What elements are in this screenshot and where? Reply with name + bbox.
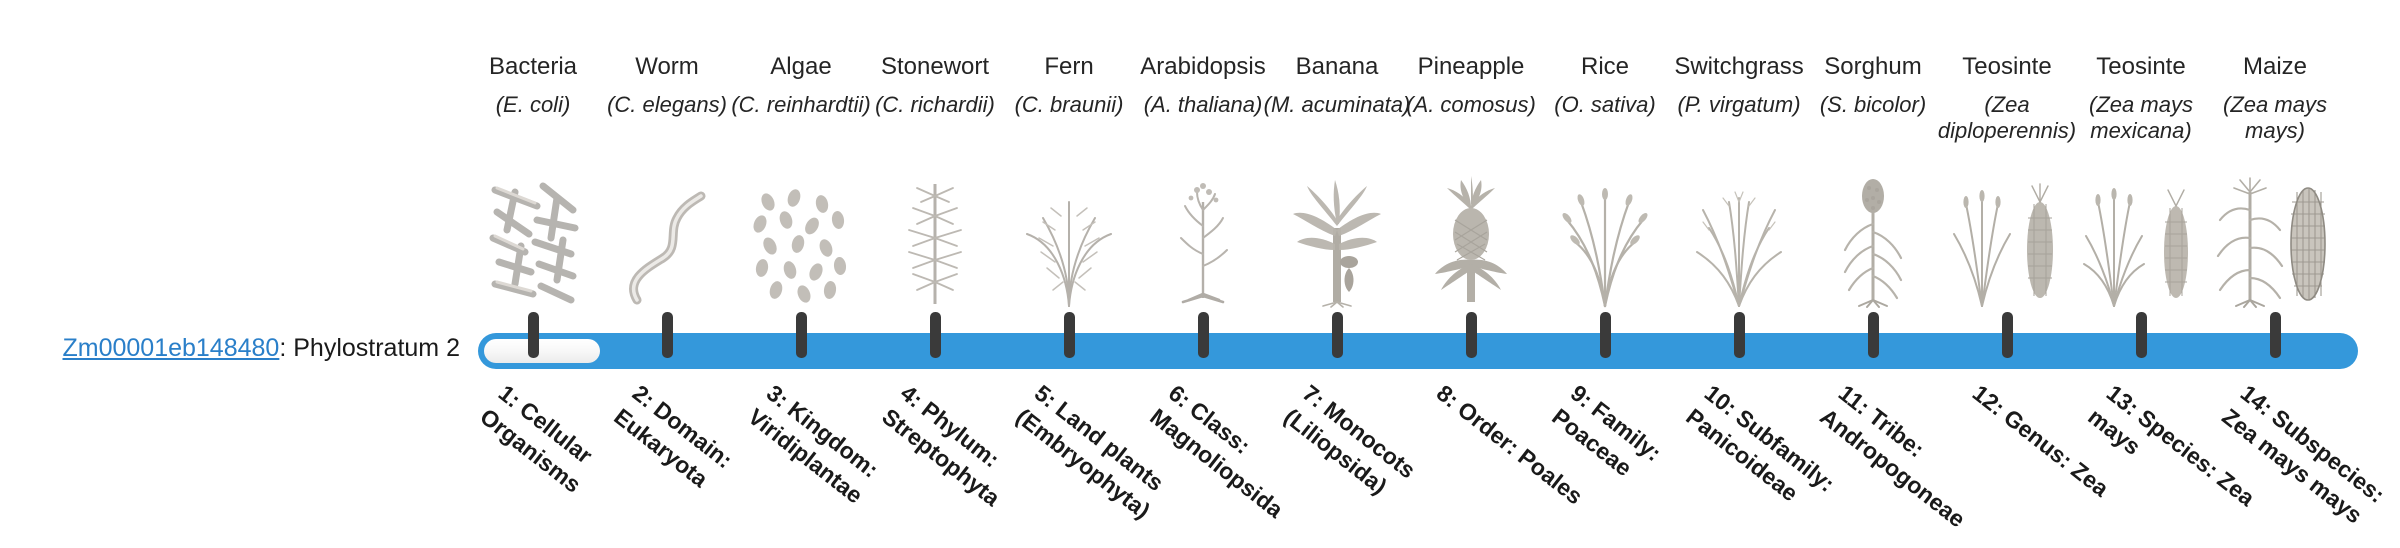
species-latin-name: (O. sativa): [1530, 92, 1680, 118]
species-common-name: Pineapple: [1396, 52, 1546, 82]
phylostratum-tick-7[interactable]: [1332, 312, 1343, 358]
phylostratum-tick-2[interactable]: [662, 312, 673, 358]
species-common-name: Worm: [592, 52, 742, 82]
species-common-name: Teosinte: [2066, 52, 2216, 82]
arabidopsis-icon: [1128, 168, 1278, 308]
phylostratum-unfilled-region: [484, 339, 600, 363]
gene-label-separator: :: [279, 334, 293, 362]
worm-icon: [592, 168, 742, 308]
species-column-9: Rice(O. sativa): [1530, 52, 1680, 118]
switchgrass-icon: [1664, 168, 1814, 308]
species-common-name: Switchgrass: [1664, 52, 1814, 82]
species-column-10: Switchgrass(P. virgatum): [1664, 52, 1814, 118]
species-column-6: Arabidopsis(A. thaliana): [1128, 52, 1278, 118]
species-latin-name: (C. richardii): [860, 92, 1010, 118]
phylostratum-tick-4[interactable]: [930, 312, 941, 358]
phylostratum-tick-13[interactable]: [2136, 312, 2147, 358]
species-common-name: Fern: [994, 52, 1144, 82]
phylostratum-tick-6[interactable]: [1198, 312, 1209, 358]
species-latin-name: (C. reinhardtii): [726, 92, 876, 118]
phylostratum-figure: Zm00001eb148480: Phylostratum 2 Bacteria…: [0, 0, 2400, 520]
species-column-7: Banana(M. acuminata): [1262, 52, 1412, 118]
species-column-14: Maize(Zea mays mays): [2200, 52, 2350, 144]
banana-icon: [1262, 168, 1412, 308]
phylostratum-tick-5[interactable]: [1064, 312, 1075, 358]
species-common-name: Arabidopsis: [1128, 52, 1278, 82]
species-common-name: Bacteria: [458, 52, 608, 82]
species-latin-name: (A. thaliana): [1128, 92, 1278, 118]
species-column-3: Algae(C. reinhardtii): [726, 52, 876, 118]
species-column-12: Teosinte(Zea diploperennis): [1932, 52, 2082, 144]
species-column-11: Sorghum(S. bicolor): [1798, 52, 1948, 118]
pineapple-icon: [1396, 168, 1546, 308]
phylostratum-tick-11[interactable]: [1868, 312, 1879, 358]
maize-icon: [2200, 168, 2350, 308]
fern-icon: [994, 168, 1144, 308]
stonewort-icon: [860, 168, 1010, 308]
species-common-name: Maize: [2200, 52, 2350, 82]
sorghum-icon: [1798, 168, 1948, 308]
phylostratum-progress-bar[interactable]: [478, 333, 2358, 369]
phylostratum-tick-3[interactable]: [796, 312, 807, 358]
species-latin-name: (S. bicolor): [1798, 92, 1948, 118]
species-column-5: Fern(C. braunii): [994, 52, 1144, 118]
species-column-13: Teosinte(Zea mays mexicana): [2066, 52, 2216, 144]
species-column-4: Stonewort(C. richardii): [860, 52, 1010, 118]
algae-icon: [726, 168, 876, 308]
species-common-name: Rice: [1530, 52, 1680, 82]
teosinte-diploperennis-icon: [1932, 168, 2082, 308]
teosinte-mexicana-icon: [2066, 168, 2216, 308]
species-common-name: Teosinte: [1932, 52, 2082, 82]
species-latin-name: (C. elegans): [592, 92, 742, 118]
phylostratum-value-text: Phylostratum 2: [293, 334, 460, 362]
species-latin-name: (M. acuminata): [1262, 92, 1412, 118]
species-latin-name: (Zea diploperennis): [1932, 92, 2082, 144]
species-common-name: Algae: [726, 52, 876, 82]
gene-id-link[interactable]: Zm00001eb148480: [62, 334, 279, 362]
gene-phylostratum-label: Zm00001eb148480: Phylostratum 2: [40, 334, 460, 363]
species-latin-name: (P. virgatum): [1664, 92, 1814, 118]
species-column-8: Pineapple(A. comosus): [1396, 52, 1546, 118]
phylostratum-tick-12[interactable]: [2002, 312, 2013, 358]
species-column-2: Worm(C. elegans): [592, 52, 742, 118]
phylostratum-tick-10[interactable]: [1734, 312, 1745, 358]
bacteria-icon: [458, 168, 608, 308]
species-latin-name: (Zea mays mays): [2200, 92, 2350, 144]
species-latin-name: (E. coli): [458, 92, 608, 118]
species-common-name: Sorghum: [1798, 52, 1948, 82]
species-latin-name: (C. braunii): [994, 92, 1144, 118]
species-latin-name: (A. comosus): [1396, 92, 1546, 118]
phylostratum-tick-14[interactable]: [2270, 312, 2281, 358]
rice-icon: [1530, 168, 1680, 308]
species-latin-name: (Zea mays mexicana): [2066, 92, 2216, 144]
phylostratum-tick-1[interactable]: [528, 312, 539, 358]
species-common-name: Banana: [1262, 52, 1412, 82]
species-common-name: Stonewort: [860, 52, 1010, 82]
phylostratum-tick-8[interactable]: [1466, 312, 1477, 358]
species-column-1: Bacteria(E. coli): [458, 52, 608, 118]
phylostratum-tick-9[interactable]: [1600, 312, 1611, 358]
